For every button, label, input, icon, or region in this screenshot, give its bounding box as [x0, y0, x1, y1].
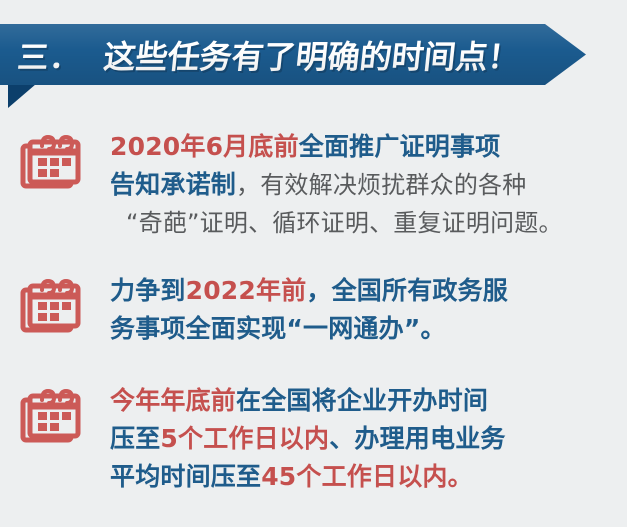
text-line: 平均时间压至45个工作日以内。 — [110, 458, 615, 496]
text-line: 今年年底前在全国将企业开办时间 — [110, 382, 615, 420]
text-line: “奇葩”证明、循环证明、重复证明问题。 — [110, 204, 615, 242]
calendar-icon-svg — [20, 130, 82, 190]
calendar-icon-svg — [20, 274, 82, 334]
text-line: 压至5个工作日以内、办理用电业务 — [110, 420, 615, 458]
emphasis-text: 告知承诺制 — [110, 170, 236, 199]
timeline-item: 力争到2022年前，全国所有政务服务事项全面实现“一网通办”。 — [0, 272, 627, 348]
calendar-icon — [0, 128, 110, 190]
body-text: ，有效解决烦扰群众的各种 — [236, 171, 526, 199]
highlight-date-text: 45个工作日以内。 — [261, 462, 473, 491]
text-line: 告知承诺制，有效解决烦扰群众的各种 — [110, 166, 615, 204]
section-title: 这些任务有了明确的时间点！ — [102, 32, 523, 78]
emphasis-text: 全面推广证明事项 — [299, 132, 501, 161]
highlight-date-text: 2020年6月底前 — [110, 132, 299, 161]
emphasis-text: 务事项全面实现“一网通办”。 — [110, 314, 446, 343]
body-text: “奇葩”证明、循环证明、重复证明问题。 — [126, 209, 563, 237]
calendar-icon — [0, 382, 110, 444]
section-number: 三． — [16, 32, 85, 77]
highlight-date-text: 2022年前 — [186, 276, 307, 305]
calendar-icon-graphic — [20, 384, 82, 444]
highlight-date-text: 今年年底前 — [110, 386, 236, 415]
banner-arrow-shape: 三． 这些任务有了明确的时间点！ — [0, 24, 586, 85]
emphasis-text: 力争到 — [110, 276, 186, 305]
banner-tail-shape — [8, 84, 36, 108]
emphasis-text: ，全国所有政务服 — [306, 276, 508, 305]
emphasis-text: 压至 — [110, 424, 160, 453]
text-line: 力争到2022年前，全国所有政务服 — [110, 272, 615, 310]
timeline-item-text: 今年年底前在全国将企业开办时间压至5个工作日以内、办理用电业务平均时间压至45个… — [110, 382, 627, 496]
highlight-date-text: 5个工作日以内 — [160, 424, 329, 453]
infographic-page: 三． 这些任务有了明确的时间点！ 2020年6月底前全面推广证明事项告知承诺制，… — [0, 0, 627, 527]
calendar-icon-graphic — [20, 130, 82, 190]
emphasis-text: 在全国将企业开办时间 — [236, 386, 488, 415]
text-line: 2020年6月底前全面推广证明事项 — [110, 128, 615, 166]
calendar-icon-graphic — [20, 274, 82, 334]
text-line: 务事项全面实现“一网通办”。 — [110, 310, 615, 348]
emphasis-text: 平均时间压至 — [110, 462, 261, 491]
timeline-item: 2020年6月底前全面推广证明事项告知承诺制，有效解决烦扰群众的各种“奇葩”证明… — [0, 128, 627, 242]
timeline-item: 今年年底前在全国将企业开办时间压至5个工作日以内、办理用电业务平均时间压至45个… — [0, 382, 627, 496]
calendar-icon — [0, 272, 110, 334]
section-header-banner: 三． 这些任务有了明确的时间点！ — [0, 24, 627, 112]
timeline-item-text: 2020年6月底前全面推广证明事项告知承诺制，有效解决烦扰群众的各种“奇葩”证明… — [110, 128, 627, 242]
emphasis-text: 、办理用电业务 — [329, 424, 505, 453]
timeline-item-text: 力争到2022年前，全国所有政务服务事项全面实现“一网通办”。 — [110, 272, 627, 348]
calendar-icon-svg — [20, 384, 82, 444]
